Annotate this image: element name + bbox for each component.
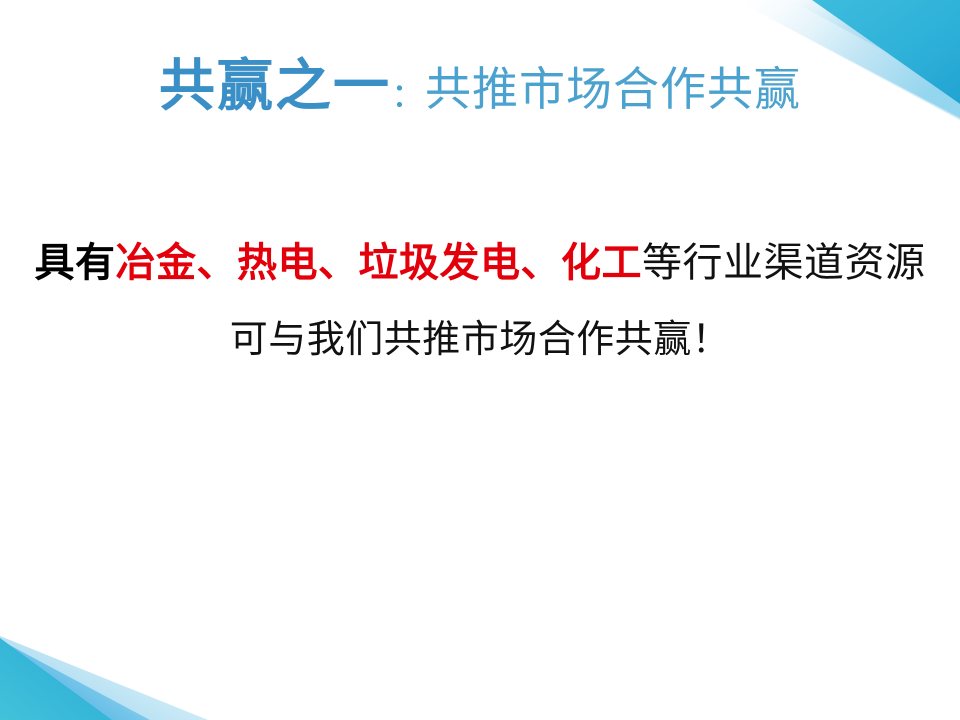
body-line-1-highlight: 冶金、热电、垃圾发电、化工 [116,241,643,285]
body-line-1: 具有冶金、热电、垃圾发电、化工等行业渠道资源 [0,243,960,283]
ribbon-bottom-left-light [0,636,208,720]
body-line-1-tail: 等行业渠道资源 [642,241,926,285]
title-separator: ： [391,76,425,116]
title-subtitle-text: 共推市场合作共赢 [425,62,801,116]
title-main-text: 共赢之一 [159,53,391,119]
slide-body: 具有冶金、热电、垃圾发电、化工等行业渠道资源 可与我们共推市场合作共赢！ [0,243,960,359]
ribbon-bottom-left-main [0,638,112,720]
slide-title: 共赢之一：共推市场合作共赢 [0,58,960,115]
ribbon-bottom-left-mid [0,640,150,720]
body-line-2: 可与我们共推市场合作共赢！ [0,321,960,359]
body-line-1-lead: 具有 [35,241,116,285]
slide-canvas: 共赢之一：共推市场合作共赢 具有冶金、热电、垃圾发电、化工等行业渠道资源 可与我… [0,0,960,720]
body-line-2-text: 可与我们共推市场合作共赢！ [230,319,731,361]
